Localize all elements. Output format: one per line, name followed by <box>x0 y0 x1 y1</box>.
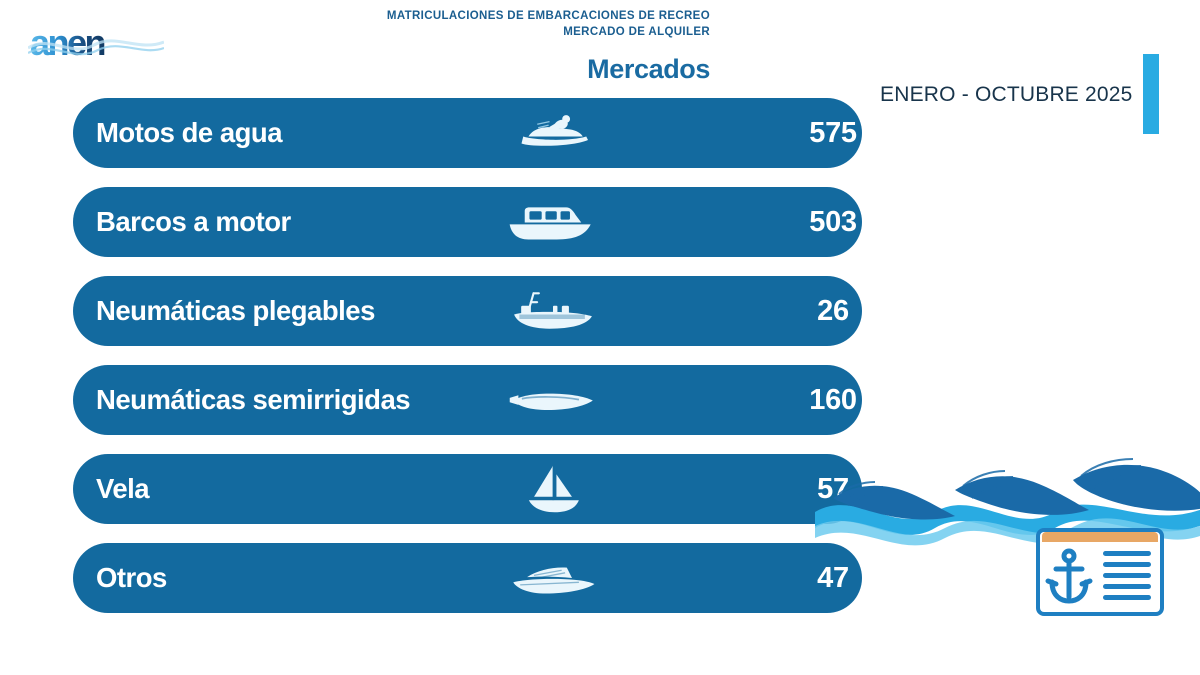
header-line-2: MERCADO DE ALQUILER <box>310 24 710 40</box>
row-label: Neumáticas semirrigidas <box>96 384 410 416</box>
row-value: 47 <box>773 562 893 595</box>
infographic-slide: anen MATRICULACIONES DE EMBARCACIONES DE… <box>0 0 1200 675</box>
jetski-icon <box>493 103 613 163</box>
anen-logo: anen <box>28 18 164 64</box>
row-value: 575 <box>773 117 893 150</box>
yacht-icon <box>493 548 613 608</box>
row-value: 503 <box>773 206 893 239</box>
header-line-1: MATRICULACIONES DE EMBARCACIONES DE RECR… <box>310 8 710 24</box>
row-label: Neumáticas plegables <box>96 295 375 327</box>
row-label: Vela <box>96 473 149 505</box>
list-item[interactable]: Vela 57 <box>73 454 862 524</box>
period-indicator: ENERO - OCTUBRE 2025 <box>880 56 1159 134</box>
list-item[interactable]: Neumáticas plegables <box>73 276 862 346</box>
list-item[interactable]: Otros 47 <box>73 543 862 613</box>
row-value: 26 <box>773 295 893 328</box>
period-accent-bar <box>1143 54 1159 134</box>
list-item[interactable]: Neumáticas semirrigidas 160 <box>73 365 862 435</box>
row-label: Barcos a motor <box>96 206 291 238</box>
markets-list: Motos de agua 575 <box>73 98 862 632</box>
list-item[interactable]: Motos de agua 575 <box>73 98 862 168</box>
page-title: Mercados <box>310 54 710 85</box>
row-label: Otros <box>96 562 167 594</box>
header-subtitle: MATRICULACIONES DE EMBARCACIONES DE RECR… <box>310 8 710 40</box>
list-item[interactable]: Barcos a motor 503 <box>73 187 862 257</box>
motorboat-icon <box>493 192 613 252</box>
row-value: 57 <box>773 473 893 506</box>
row-value: 160 <box>773 384 893 417</box>
row-label: Motos de agua <box>96 117 282 149</box>
inflatable-boat-icon <box>493 281 613 341</box>
sailboat-icon <box>493 459 613 519</box>
licence-card-icon <box>1035 527 1165 617</box>
period-label: ENERO - OCTUBRE 2025 <box>880 83 1133 107</box>
rib-boat-icon <box>493 370 613 430</box>
